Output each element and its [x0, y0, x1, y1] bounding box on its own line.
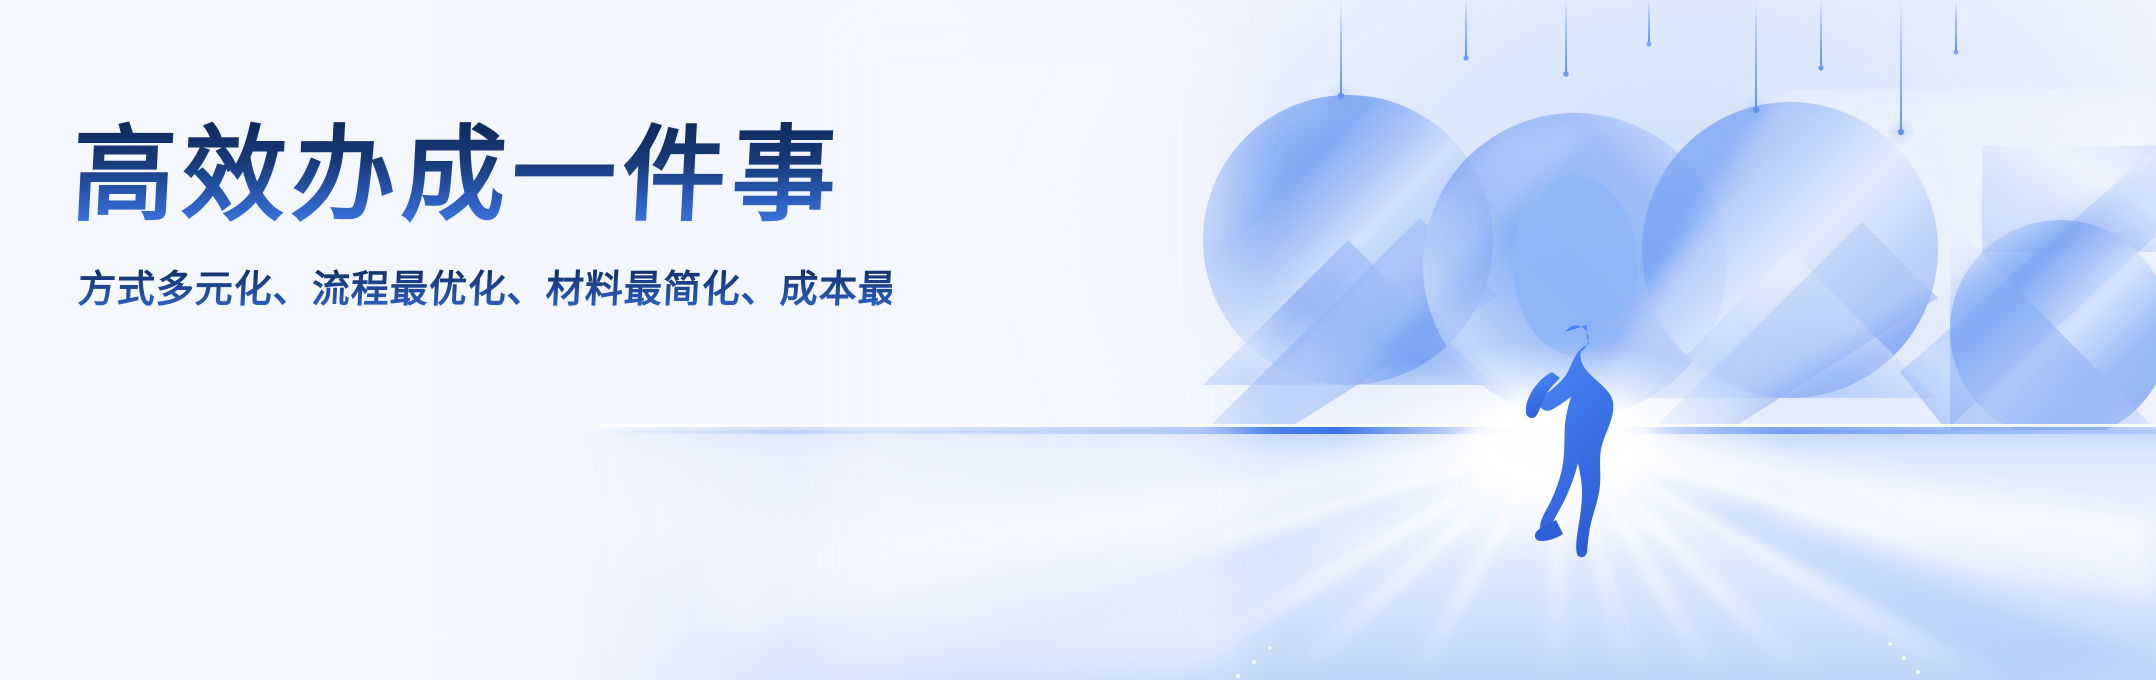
page-subtitle: 方式多元化、流程最优化、材料最简化、成本最小化	[77, 266, 893, 312]
hero-banner: 高效办成一件事 方式多元化、流程最优化、材料最简化、成本最小化	[0, 0, 2156, 680]
headline-block: 高效办成一件事 方式多元化、流程最优化、材料最简化、成本最小化	[72, 118, 892, 312]
page-title: 高效办成一件事	[69, 118, 895, 232]
banner-artwork	[0, 0, 2156, 680]
text-side-veil	[820, 0, 1240, 680]
